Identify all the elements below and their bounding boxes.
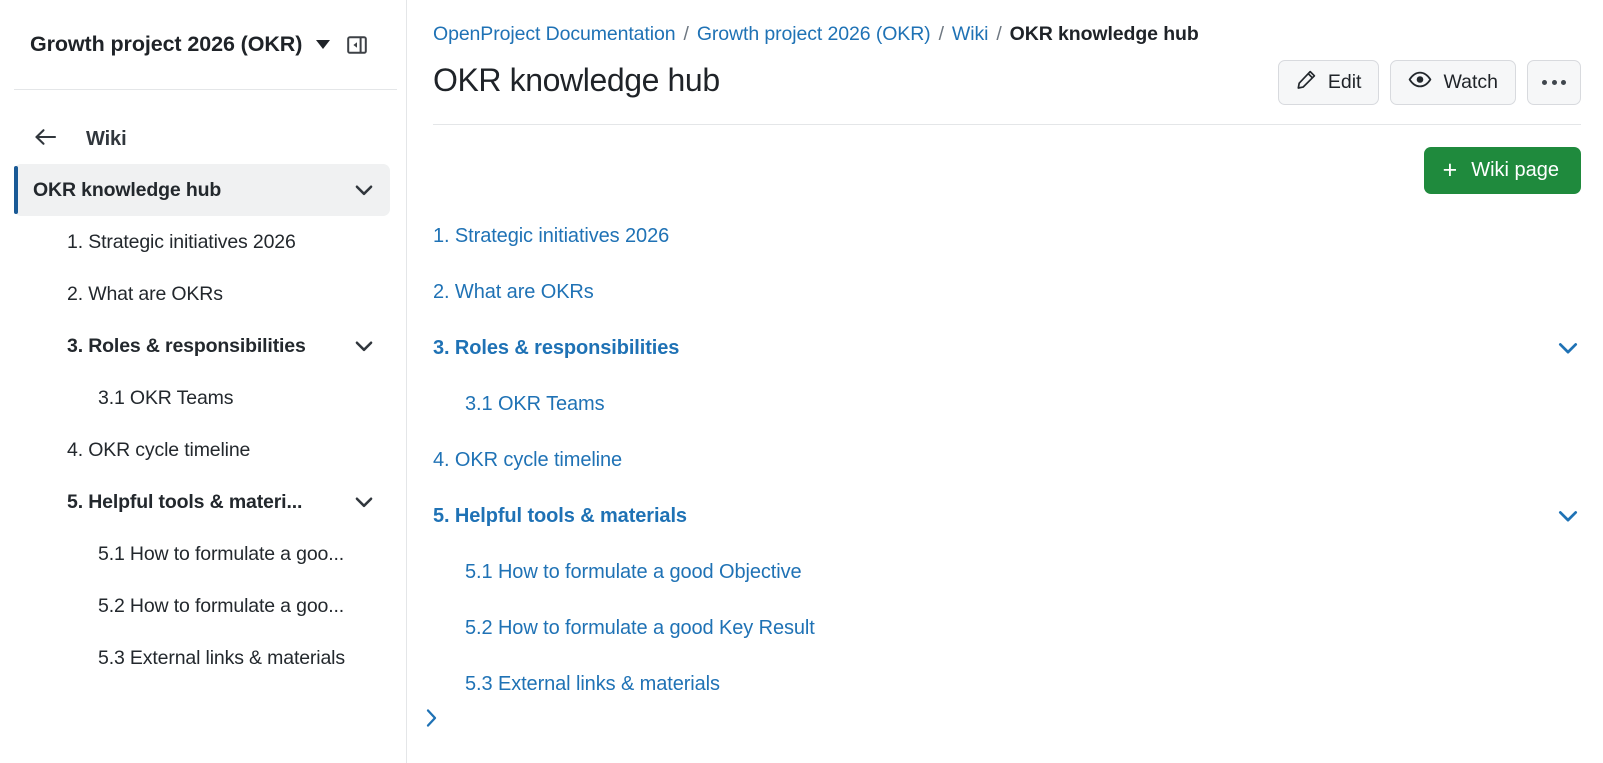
sidebar-tree-item[interactable]: 4. OKR cycle timeline xyxy=(14,424,390,476)
sidebar-tree-item[interactable]: 5.1 How to formulate a goo... xyxy=(14,528,390,580)
breadcrumb-link[interactable]: Growth project 2026 (OKR) xyxy=(697,23,931,46)
chevron-down-icon[interactable] xyxy=(352,490,376,514)
wiki-table-of-contents: 1. Strategic initiatives 20262. What are… xyxy=(407,218,1603,702)
breadcrumb-link[interactable]: OpenProject Documentation xyxy=(433,23,675,46)
main-content: OpenProject Documentation/Growth project… xyxy=(407,0,1603,763)
breadcrumb: OpenProject Documentation/Growth project… xyxy=(407,0,1603,46)
sidebar-tree-item[interactable]: 3.1 OKR Teams xyxy=(14,372,390,424)
sidebar-tree-item-label: 3.1 OKR Teams xyxy=(98,387,376,410)
caret-down-icon xyxy=(316,40,330,49)
add-wiki-page-label: Wiki page xyxy=(1471,159,1559,182)
pencil-icon xyxy=(1296,69,1317,96)
sidebar-tree-item-label: 1. Strategic initiatives 2026 xyxy=(67,231,376,254)
toc-link[interactable]: 2. What are OKRs xyxy=(433,281,594,304)
page-actions: Edit Watch xyxy=(1278,60,1581,105)
toc-link[interactable]: 5. Helpful tools & materials xyxy=(433,505,687,528)
breadcrumb-separator: / xyxy=(683,23,688,46)
arrow-left-icon xyxy=(34,127,58,152)
sidebar-tree-item[interactable]: 5. Helpful tools & materi... xyxy=(14,476,390,528)
sidebar-tree-item-label: 5. Helpful tools & materi... xyxy=(67,491,352,514)
eye-icon xyxy=(1408,69,1432,96)
sidebar-tree-item-label: OKR knowledge hub xyxy=(33,179,352,202)
toc-link[interactable]: 1. Strategic initiatives 2026 xyxy=(433,225,669,248)
toc-link[interactable]: 5.2 How to formulate a good Key Result xyxy=(465,617,815,640)
page-title-row: OKR knowledge hub Edit xyxy=(407,60,1603,105)
edit-button[interactable]: Edit xyxy=(1278,60,1380,105)
breadcrumb-current: OKR knowledge hub xyxy=(1010,23,1199,46)
sidebar-tree-item[interactable]: 1. Strategic initiatives 2026 xyxy=(14,216,390,268)
title-divider xyxy=(433,124,1581,125)
toc-row: 5.1 How to formulate a good Objective xyxy=(407,554,1581,590)
sidebar-back-to-wiki[interactable]: Wiki xyxy=(0,116,406,162)
toc-link[interactable]: 5.3 External links & materials xyxy=(465,673,720,696)
page-title: OKR knowledge hub xyxy=(433,60,1278,100)
sidebar-tree-item[interactable]: 5.3 External links & materials xyxy=(14,632,390,684)
watch-button-label: Watch xyxy=(1443,71,1498,94)
sidebar-tree-item-label: 2. What are OKRs xyxy=(67,283,376,306)
sidebar: Growth project 2026 (OKR) Wiki OK xyxy=(0,0,407,763)
toc-row: 4. OKR cycle timeline xyxy=(407,442,1581,478)
sidebar-tree-item[interactable]: 2. What are OKRs xyxy=(14,268,390,320)
toc-link[interactable]: 5.1 How to formulate a good Objective xyxy=(465,561,802,584)
sidebar-tree-item-label: 3. Roles & responsibilities xyxy=(67,335,352,358)
more-actions-button[interactable] xyxy=(1527,60,1581,105)
sidebar-tree-item-label: 5.1 How to formulate a goo... xyxy=(98,543,376,566)
toc-link[interactable]: 3.1 OKR Teams xyxy=(465,393,605,416)
breadcrumb-separator: / xyxy=(939,23,944,46)
toc-row: 5. Helpful tools & materials xyxy=(407,498,1581,534)
toc-row: 2. What are OKRs xyxy=(407,274,1581,310)
sidebar-tree-item[interactable]: OKR knowledge hub xyxy=(14,164,390,216)
project-name: Growth project 2026 (OKR) xyxy=(30,32,302,57)
chevron-down-icon[interactable] xyxy=(352,178,376,202)
sidebar-tree-item[interactable]: 3. Roles & responsibilities xyxy=(14,320,390,372)
collapse-sidebar-icon[interactable] xyxy=(338,26,376,64)
toc-row: 1. Strategic initiatives 2026 xyxy=(407,218,1581,254)
sidebar-tree-item-label: 4. OKR cycle timeline xyxy=(67,439,376,462)
toc-link[interactable]: 4. OKR cycle timeline xyxy=(433,449,622,472)
add-wiki-page-button[interactable]: + Wiki page xyxy=(1424,147,1581,194)
toc-row: 3. Roles & responsibilities xyxy=(407,330,1581,366)
watch-button[interactable]: Watch xyxy=(1390,60,1516,105)
toc-link[interactable]: 3. Roles & responsibilities xyxy=(433,337,679,360)
toc-row: 5.3 External links & materials xyxy=(407,666,1581,702)
sidebar-tree-item-label: 5.2 How to formulate a goo... xyxy=(98,595,376,618)
kebab-menu-icon xyxy=(1542,80,1566,85)
edit-button-label: Edit xyxy=(1328,71,1362,94)
toc-row: 3.1 OKR Teams xyxy=(407,386,1581,422)
chevron-right-icon[interactable] xyxy=(415,702,447,734)
sidebar-tree-item-label: 5.3 External links & materials xyxy=(98,647,376,670)
breadcrumb-link[interactable]: Wiki xyxy=(952,23,988,46)
sidebar-tree-item[interactable]: 5.2 How to formulate a goo... xyxy=(14,580,390,632)
app-root: Growth project 2026 (OKR) Wiki OK xyxy=(0,0,1603,763)
project-header: Growth project 2026 (OKR) xyxy=(0,0,406,89)
sidebar-back-label: Wiki xyxy=(86,128,127,151)
sidebar-divider xyxy=(14,89,397,90)
add-wiki-page-row: + Wiki page xyxy=(407,147,1603,194)
chevron-down-icon[interactable] xyxy=(352,334,376,358)
wiki-page-tree: OKR knowledge hub1. Strategic initiative… xyxy=(0,162,406,684)
chevron-down-icon[interactable] xyxy=(1555,335,1581,361)
toc-row: 5.2 How to formulate a good Key Result xyxy=(407,610,1581,646)
project-selector[interactable]: Growth project 2026 (OKR) xyxy=(30,32,338,57)
breadcrumb-separator: / xyxy=(996,23,1001,46)
plus-icon: + xyxy=(1443,158,1458,183)
chevron-down-icon[interactable] xyxy=(1555,503,1581,529)
